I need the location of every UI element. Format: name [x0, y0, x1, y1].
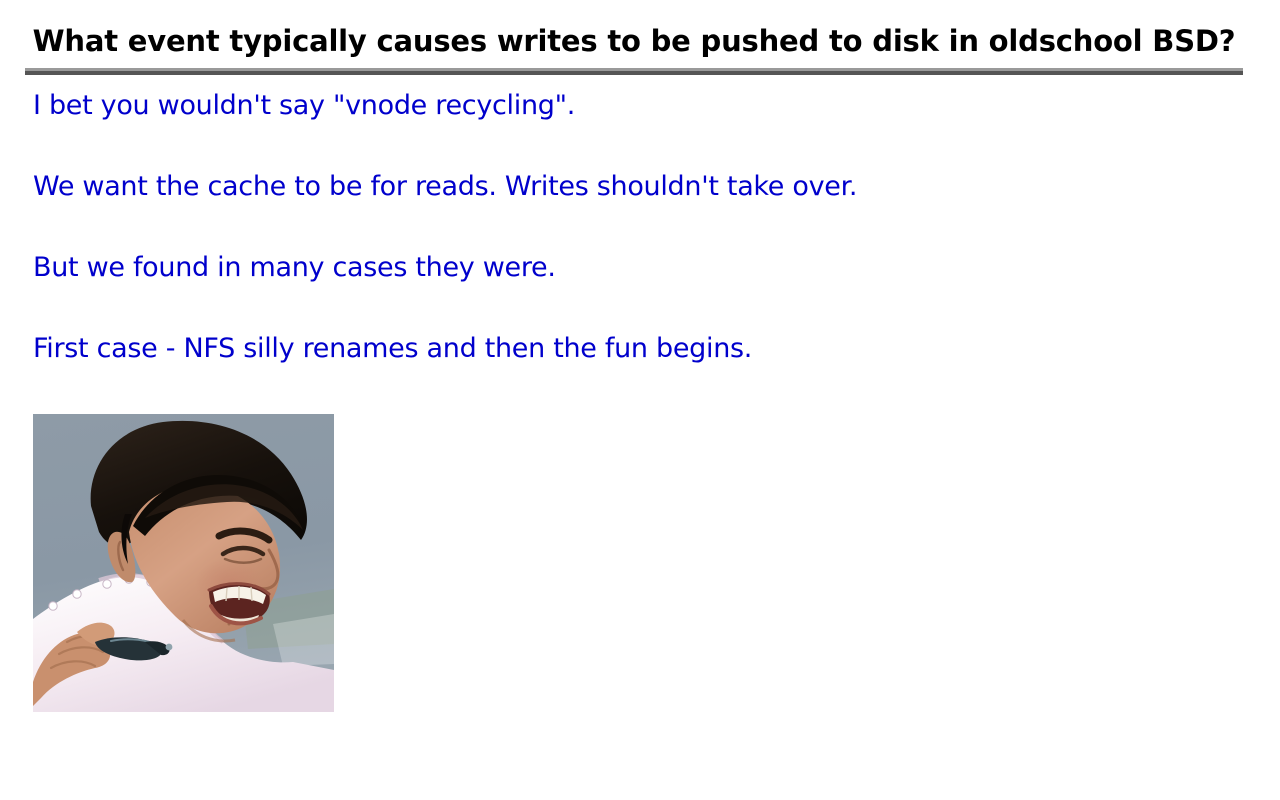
body-line-1: I bet you wouldn't say "vnode recycling"…	[33, 84, 1233, 165]
photo-man-grimacing	[33, 414, 334, 712]
title-divider	[25, 68, 1243, 75]
body-line-4: First case - NFS silly renames and then …	[33, 327, 1233, 408]
title-divider-bottom-stripe	[25, 71, 1243, 75]
slide-title: What event typically causes writes to be…	[25, 24, 1243, 59]
slide-body: I bet you wouldn't say "vnode recycling"…	[33, 84, 1233, 408]
body-line-2: We want the cache to be for reads. Write…	[33, 165, 1233, 246]
body-line-3: But we found in many cases they were.	[33, 246, 1233, 327]
presentation-slide: What event typically causes writes to be…	[0, 0, 1280, 800]
photo-man-grimacing-graphic	[33, 414, 334, 712]
